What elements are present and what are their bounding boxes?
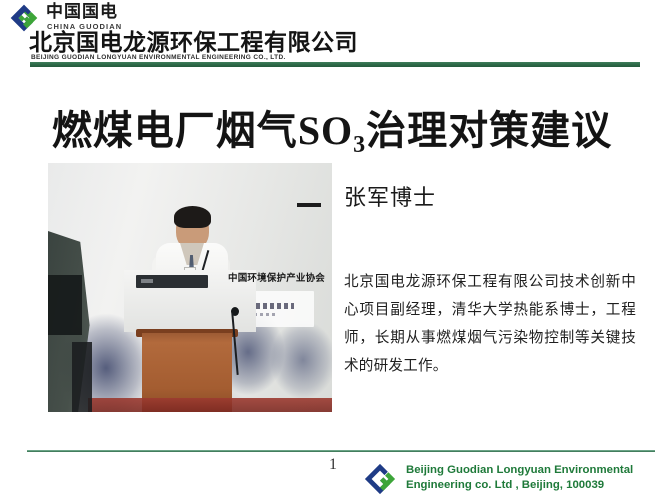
footer-green-divider bbox=[27, 450, 655, 452]
header-brand-cn: 中国国电 bbox=[46, 2, 118, 21]
photo-speaker-hair bbox=[174, 206, 211, 228]
photo-dark-dash bbox=[297, 203, 321, 207]
photo-red-carpet bbox=[88, 398, 332, 412]
speaker-name: 张军博士 bbox=[344, 180, 436, 212]
title-part-1: 燃煤电厂烟气 bbox=[52, 109, 298, 153]
slide-header: 中国国电 CHINA GUODIAN 北京国电龙源环保工程有限公司 BEIJIN… bbox=[0, 0, 664, 70]
title-part-2: 治理对策建议 bbox=[366, 109, 612, 153]
slide-title: 燃煤电厂烟气SO3治理对策建议 bbox=[0, 105, 664, 163]
header-company-name-en: BEIJING GUODIAN LONGYUAN ENVIRONMENTAL E… bbox=[31, 54, 286, 61]
photo-association-caption: 中国环境保护产业协会 bbox=[228, 270, 325, 284]
footer-company-line-1: Beijing Guodian Longyuan Environmental bbox=[406, 463, 633, 478]
title-formula-subscript: 3 bbox=[353, 132, 366, 158]
photo-dark-post bbox=[72, 342, 92, 412]
title-formula-main: SO bbox=[298, 108, 353, 153]
speaker-photo: 中国环境保护产业协会 bbox=[48, 163, 332, 412]
page-number: 1 bbox=[322, 456, 344, 474]
speaker-bio: 北京国电龙源环保工程有限公司技术创新中心项目副经理，清华大学热能系博士，工程师，… bbox=[344, 268, 636, 380]
footer-company-line-2: Engineering co. Ltd , Beijing, 100039 bbox=[406, 478, 633, 493]
header-green-divider bbox=[30, 62, 640, 67]
guodian-diamond-logo-icon bbox=[360, 462, 400, 496]
photo-desk-microphone-unit bbox=[136, 275, 208, 288]
photo-left-dark-panel bbox=[48, 275, 82, 335]
footer-company-address: Beijing Guodian Longyuan Environmental E… bbox=[406, 463, 633, 493]
header-company-name-cn: 北京国电龙源环保工程有限公司 bbox=[29, 30, 358, 55]
